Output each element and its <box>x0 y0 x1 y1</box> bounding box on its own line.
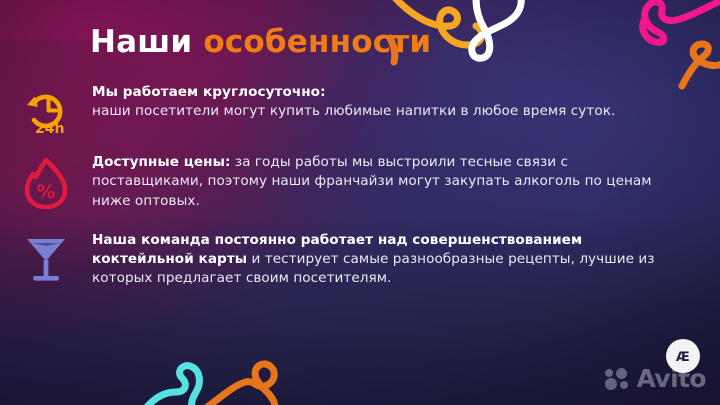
feature-text: Наша команда постоянно работает над сове… <box>92 231 720 289</box>
feature-body: наши посетители могут купить любимые нап… <box>92 103 615 119</box>
feature-icon-slot: 24h <box>0 83 92 135</box>
feature-icon-slot: % <box>0 153 92 209</box>
feature-list: 24h Мы работаем круглосуточно: наши посе… <box>0 83 720 289</box>
title-word-white: Наши <box>90 24 192 60</box>
avito-wordmark: Avito <box>637 366 706 391</box>
presentation-slide: Наши особенности 24h Мы работаем круглос… <box>0 0 720 405</box>
feature-item: % Доступные цены: за годы работы мы выст… <box>0 153 720 211</box>
clock-24h-icon: 24h <box>23 87 69 135</box>
feature-lead: Мы работаем круглосуточно: <box>92 84 326 100</box>
feature-lead: Доступные цены: <box>92 154 230 170</box>
flame-percent-icon: % <box>25 157 67 209</box>
slide-title: Наши особенности <box>90 25 431 59</box>
flame-percent-label: % <box>36 181 55 203</box>
feature-icon-slot <box>0 231 92 283</box>
avito-badge: ᴁ <box>666 339 700 373</box>
feature-item: 24h Мы работаем круглосуточно: наши посе… <box>0 83 720 135</box>
avito-badge-glyph: ᴁ <box>676 348 690 365</box>
cocktail-glass-icon <box>24 233 68 283</box>
feature-item: Наша команда постоянно работает над сове… <box>0 231 720 289</box>
avito-logo-icon <box>605 368 631 390</box>
feature-text: Доступные цены: за годы работы мы выстро… <box>92 153 720 211</box>
feature-text: Мы работаем круглосуточно: наши посетите… <box>92 83 720 122</box>
clock-24h-label: 24h <box>35 121 64 135</box>
title-word-orange: особенности <box>203 24 431 60</box>
